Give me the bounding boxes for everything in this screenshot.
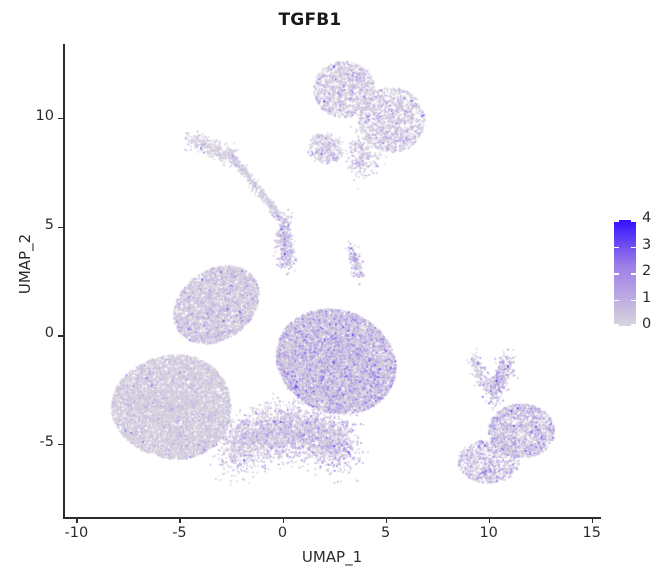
x-tick-label: 0 <box>253 525 313 541</box>
y-axis-label: UMAP_2 <box>16 204 34 324</box>
colorbar-tick-mark <box>631 273 636 275</box>
colorbar-tick-mark <box>631 220 636 222</box>
colorbar-tick-mark <box>614 273 619 275</box>
x-tick-mark <box>489 518 490 523</box>
x-tick-label: -10 <box>46 525 106 541</box>
y-tick-label: 0 <box>10 325 54 341</box>
x-tick-label: 10 <box>459 525 519 541</box>
colorbar-legend: 01234 <box>614 220 670 330</box>
colorbar-tick-label: 3 <box>642 237 651 253</box>
umap-feature-plot: TGFB1 -10-5051015 -50510 UMAP_1 UMAP_2 0… <box>0 0 672 576</box>
colorbar-tick-mark <box>614 324 619 326</box>
colorbar-tick-label: 2 <box>642 263 651 279</box>
colorbar-tick-mark <box>614 300 619 302</box>
y-tick-mark <box>58 335 63 336</box>
x-tick-label: 15 <box>562 525 622 541</box>
y-tick-label: 10 <box>10 108 54 124</box>
scatter-plot-canvas <box>64 44 600 518</box>
x-tick-mark <box>76 518 77 523</box>
y-tick-mark <box>58 444 63 445</box>
x-tick-label: -5 <box>149 525 209 541</box>
y-axis-spine <box>63 44 65 519</box>
colorbar-tick-mark <box>614 220 619 222</box>
colorbar-tick-mark <box>614 247 619 249</box>
y-tick-label: -5 <box>10 434 54 450</box>
colorbar-tick-label: 4 <box>642 210 651 226</box>
colorbar-tick-mark <box>631 324 636 326</box>
x-axis-spine <box>63 517 601 519</box>
page-title: TGFB1 <box>0 10 620 30</box>
x-tick-mark <box>386 518 387 523</box>
y-tick-mark <box>58 227 63 228</box>
colorbar-tick-label: 1 <box>642 290 651 306</box>
x-tick-label: 5 <box>356 525 416 541</box>
x-axis-label: UMAP_1 <box>64 548 600 566</box>
colorbar-tick-mark <box>631 247 636 249</box>
x-tick-mark <box>592 518 593 523</box>
x-tick-mark <box>179 518 180 523</box>
colorbar-tick-mark <box>631 300 636 302</box>
x-tick-mark <box>283 518 284 523</box>
y-tick-mark <box>58 118 63 119</box>
colorbar-tick-label: 0 <box>642 316 651 332</box>
